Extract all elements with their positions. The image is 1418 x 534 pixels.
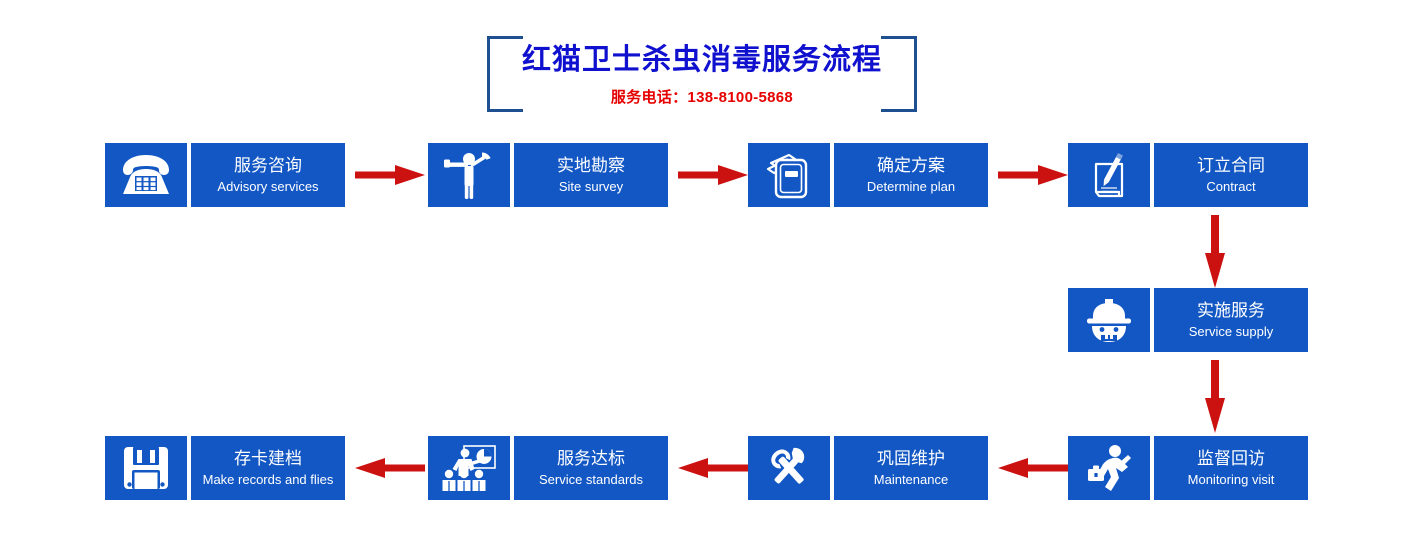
node-label-en: Advisory services (217, 178, 318, 196)
pen-paper-icon (1068, 143, 1150, 207)
node-label-cn: 实地勘察 (557, 155, 625, 178)
flow-node-label: 服务达标 Service standards (514, 436, 668, 500)
node-label-cn: 服务咨询 (234, 155, 302, 178)
flow-node-maintenance[interactable]: 巩固维护 Maintenance (748, 436, 988, 500)
surveyor-icon (428, 143, 510, 207)
tools-icon (748, 436, 830, 500)
node-label-cn: 存卡建档 (234, 448, 302, 471)
flow-node-standards[interactable]: 服务达标 Service standards (428, 436, 668, 500)
flow-node-label: 监督回访 Monitoring visit (1154, 436, 1308, 500)
node-label-cn: 实施服务 (1197, 300, 1265, 323)
flow-node-label: 服务咨询 Advisory services (191, 143, 345, 207)
node-label-cn: 监督回访 (1197, 448, 1265, 471)
arrow-service-to-monitoring (1203, 360, 1227, 433)
arrow-contract-to-service (1203, 215, 1227, 288)
node-label-en: Monitoring visit (1188, 471, 1275, 489)
flow-node-monitoring[interactable]: 监督回访 Monitoring visit (1068, 436, 1308, 500)
arrow-plan-to-contract (998, 163, 1068, 187)
flowchart-canvas: 红猫卫士杀虫消毒服务流程 服务电话：138-8100-5868 服务咨询 Adv… (0, 0, 1418, 534)
documents-icon (748, 143, 830, 207)
floppy-disk-icon (105, 436, 187, 500)
flow-node-label: 订立合同 Contract (1154, 143, 1308, 207)
flow-node-service-supply[interactable]: 实施服务 Service supply (1068, 288, 1308, 352)
flow-node-determine-plan[interactable]: 确定方案 Determine plan (748, 143, 988, 207)
running-man-icon (1068, 436, 1150, 500)
flow-node-label: 实施服务 Service supply (1154, 288, 1308, 352)
flow-node-advisory[interactable]: 服务咨询 Advisory services (105, 143, 345, 207)
node-label-cn: 订立合同 (1197, 155, 1265, 178)
arrow-monitoring-to-maintenance (998, 456, 1068, 480)
flow-node-site-survey[interactable]: 实地勘察 Site survey (428, 143, 668, 207)
node-label-en: Determine plan (867, 178, 955, 196)
presentation-icon (428, 436, 510, 500)
node-label-en: Maintenance (874, 471, 948, 489)
node-label-cn: 服务达标 (557, 448, 625, 471)
arrow-survey-to-plan (678, 163, 748, 187)
node-label-cn: 确定方案 (877, 155, 945, 178)
flow-node-label: 巩固维护 Maintenance (834, 436, 988, 500)
flow-node-label: 实地勘察 Site survey (514, 143, 668, 207)
page-title: 红猫卫士杀虫消毒服务流程 (487, 42, 917, 78)
chart-title-block: 红猫卫士杀虫消毒服务流程 服务电话：138-8100-5868 (487, 36, 917, 112)
contact-phone: 服务电话：138-8100-5868 (487, 86, 917, 107)
node-label-en: Service standards (539, 471, 643, 489)
node-label-en: Site survey (559, 178, 623, 196)
arrow-maintenance-to-standards (678, 456, 748, 480)
node-label-en: Contract (1206, 178, 1255, 196)
flow-node-label: 存卡建档 Make records and flies (191, 436, 345, 500)
telephone-icon (105, 143, 187, 207)
arrow-advisory-to-survey (355, 163, 425, 187)
flow-node-contract[interactable]: 订立合同 Contract (1068, 143, 1308, 207)
node-label-en: Service supply (1189, 323, 1274, 341)
flow-node-label: 确定方案 Determine plan (834, 143, 988, 207)
node-label-en: Make records and flies (203, 471, 334, 489)
flow-node-records[interactable]: 存卡建档 Make records and flies (105, 436, 345, 500)
arrow-standards-to-records (355, 456, 425, 480)
node-label-cn: 巩固维护 (877, 448, 945, 471)
hardhat-icon (1068, 288, 1150, 352)
